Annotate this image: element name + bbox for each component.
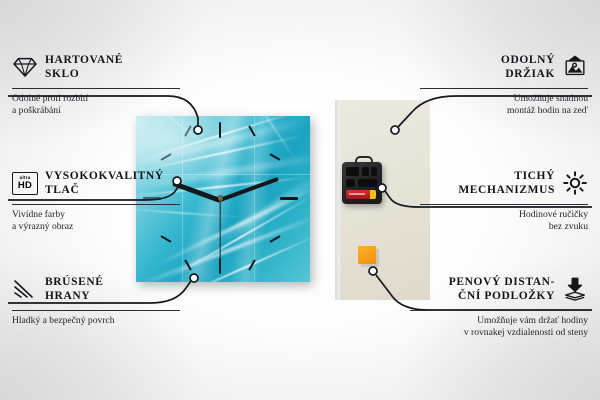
- hour-tick: [280, 197, 298, 200]
- second-hand: [219, 200, 220, 272]
- feature-hardened-glass: HARTOVANÉ SKLO Odolné proti rozbití a po…: [12, 50, 180, 118]
- feature-title: PENOVÝ DISTAN- ČNÍ PODLOŽKY: [449, 275, 555, 303]
- foam-spacer-pad: [358, 246, 376, 264]
- spacer-stack-icon: [562, 276, 588, 302]
- divider: [12, 88, 180, 89]
- divider: [420, 204, 588, 205]
- feature-subtitle: Umožňuje snadnou montáž hodin na zeď: [420, 93, 588, 118]
- hanger-hook: [355, 156, 373, 166]
- feature-high-quality-print: ultra HD VYSOKOKVALITNÝ TLAČ Vivídne far…: [12, 166, 180, 234]
- feature-title: BRÚSENÉ HRANY: [45, 275, 104, 303]
- ultra-hd-icon: ultra HD: [12, 170, 38, 196]
- divider: [410, 310, 588, 311]
- feature-title: VYSOKOKVALITNÝ TLAČ: [45, 169, 164, 197]
- diamond-icon: [12, 54, 38, 80]
- polished-edges-icon: [12, 276, 38, 302]
- feature-subtitle: Odolné proti rozbití a poškrábání: [12, 93, 180, 118]
- feature-durable-hanger: ODOLNÝ DRŽIAK Umožňuje snadnou montáž ho…: [420, 50, 588, 118]
- hands-center-cap: [218, 196, 223, 201]
- feature-subtitle: Hladký a bezpečný povrch: [12, 315, 180, 327]
- feature-subtitle: Hodinové ručičky bez zvuku: [420, 209, 588, 234]
- feature-title: TICHÝ MECHANIZMUS: [458, 169, 555, 197]
- divider: [12, 310, 180, 311]
- feature-subtitle: Vivídne farby a výrazný obraz: [12, 209, 180, 234]
- divider: [420, 88, 588, 89]
- product-infographic: HARTOVANÉ SKLO Odolné proti rozbití a po…: [0, 0, 600, 400]
- clock-mechanism: [342, 162, 382, 204]
- picture-hanger-icon: [562, 54, 588, 80]
- feature-polished-edges: BRÚSENÉ HRANY Hladký a bezpečný povrch: [12, 272, 180, 327]
- feature-foam-spacers: PENOVÝ DISTAN- ČNÍ PODLOŽKY Umožňuje vám…: [410, 272, 588, 340]
- gear-icon: [562, 170, 588, 196]
- feature-title: ODOLNÝ DRŽIAK: [501, 53, 555, 81]
- feature-silent-mechanism: TICHÝ MECHANIZMUS Hodinové ručičky bez z…: [420, 166, 588, 234]
- hour-tick: [219, 122, 221, 138]
- feature-subtitle: Umožňuje vám držať hodiny v rovnakej vzd…: [410, 315, 588, 340]
- feature-title: HARTOVANÉ SKLO: [45, 53, 123, 81]
- battery: [346, 190, 376, 199]
- divider: [12, 204, 180, 205]
